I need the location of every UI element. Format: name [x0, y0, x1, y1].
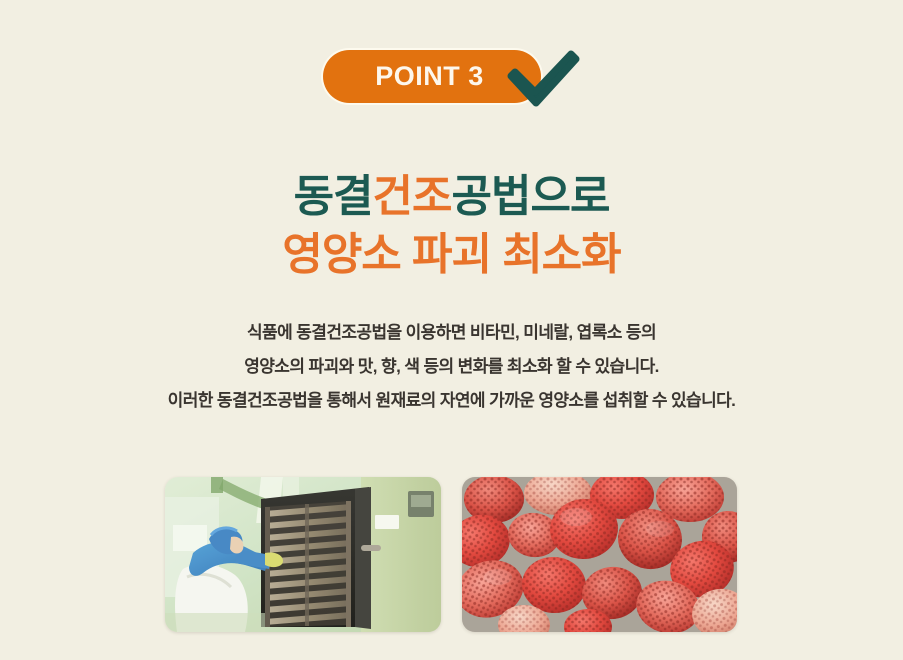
point-badge-label: POINT 3 — [375, 63, 488, 90]
headline: 동결건조공법으로 영양소 파괴 최소화 — [0, 168, 903, 284]
headline-part-3: 공법으로 — [452, 172, 610, 221]
headline-part-1: 동결 — [294, 172, 373, 221]
freeze-dryer-facility-photo — [165, 477, 441, 632]
body-line-1: 식품에 동결건조공법을 이용하면 비타민, 미네랄, 엽록소 등의 — [0, 316, 903, 350]
body-line-3: 이러한 동결건조공법을 통해서 원재료의 자연에 가까운 영양소를 섭취할 수 … — [0, 384, 903, 418]
headline-part-2: 건조 — [373, 172, 452, 221]
point-section: POINT 3 동결건조공법으로 영양소 파괴 최소화 식품에 동결건조공법을 … — [0, 0, 903, 660]
check-mark-icon — [505, 46, 581, 108]
headline-line-2: 영양소 파괴 최소화 — [0, 226, 903, 284]
freeze-dried-strawberries-photo — [462, 477, 737, 632]
headline-line-1: 동결건조공법으로 — [0, 168, 903, 226]
body-copy: 식품에 동결건조공법을 이용하면 비타민, 미네랄, 엽록소 등의 영양소의 파… — [0, 316, 903, 418]
photo-gallery — [165, 477, 737, 632]
point-badge-inner: POINT 3 — [323, 46, 581, 108]
point-badge: POINT 3 — [0, 46, 903, 108]
body-line-2: 영양소의 파괴와 맛, 향, 색 등의 변화를 최소화 할 수 있습니다. — [0, 350, 903, 384]
